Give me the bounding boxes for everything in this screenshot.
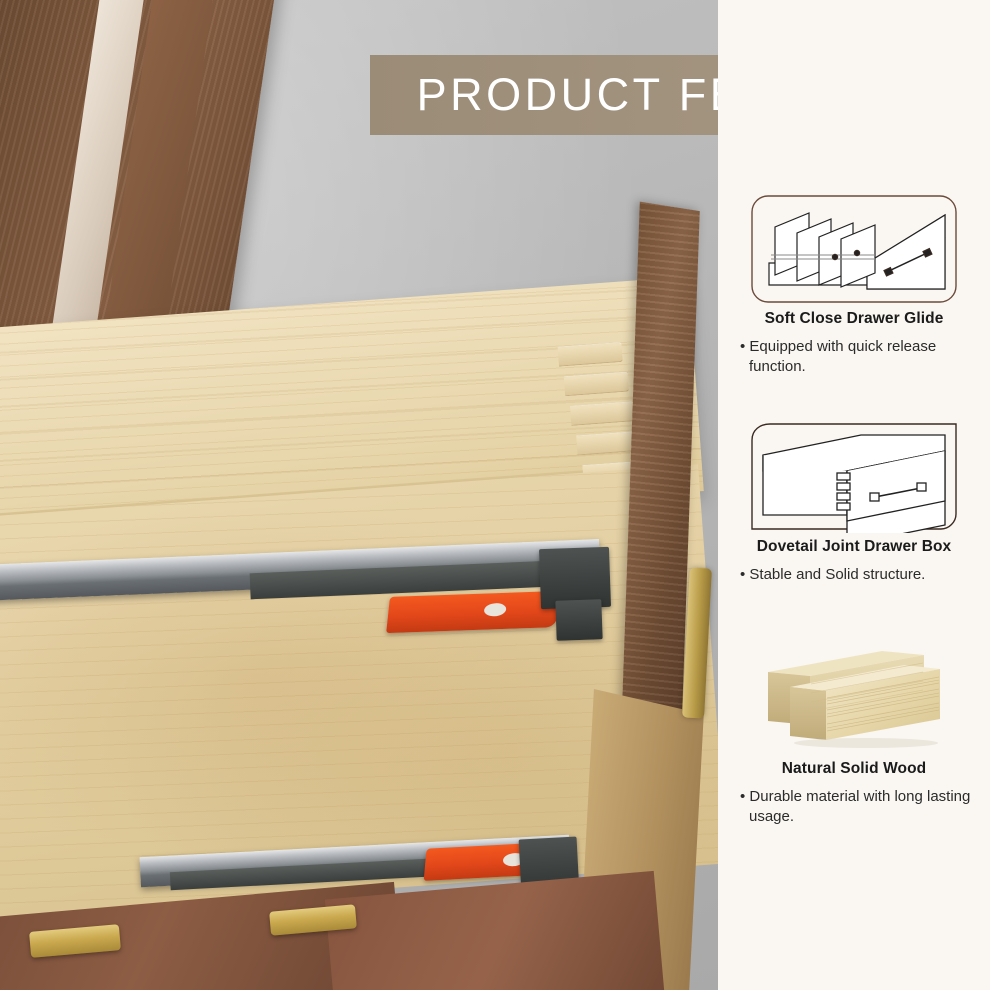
infographic-canvas: PRODUCT FEATURES [0,0,990,990]
feature-title: Soft Close Drawer Glide [718,310,990,328]
feature-item-natural-solid-wood: Natural Solid Wood • Durable material wi… [718,630,990,827]
feature-bullet: • Durable material with long lasting usa… [740,787,972,827]
feature-title: Dovetail Joint Drawer Box [718,538,990,556]
feature-title: Natural Solid Wood [718,760,990,778]
solid-wood-boards-icon [718,630,990,758]
product-photo [0,0,718,990]
features-sidebar: Soft Close Drawer Glide • Equipped with … [718,0,990,990]
clip-button [483,603,506,617]
feature-item-dovetail-joint-drawer-box: Dovetail Joint Drawer Box • Stable and S… [718,418,990,585]
feature-item-soft-close-drawer-glide: Soft Close Drawer Glide • Equipped with … [718,190,990,377]
upper-quick-release-clip [386,591,560,633]
feature-bullet: • Stable and Solid structure. [740,565,972,585]
feature-bullet: • Equipped with quick release function. [740,337,972,377]
upper-slide-locking-device [555,599,602,641]
drawer-with-dividers-icon [718,190,990,308]
dovetail-drawer-box-icon [718,418,990,536]
